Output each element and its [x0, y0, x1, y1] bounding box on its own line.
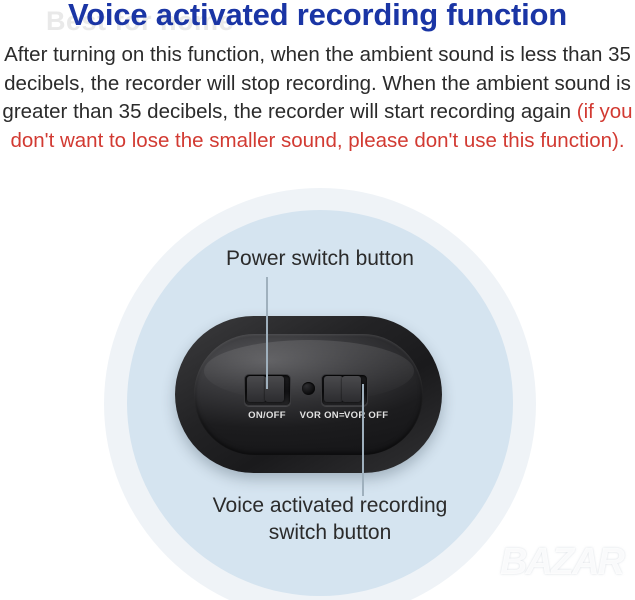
vor-switch-rocker-right-half[interactable] — [342, 376, 361, 402]
description-warning-open-paren: ( — [577, 100, 584, 123]
power-switch-rocker-left-half[interactable] — [247, 376, 266, 402]
vor-switch-rocker-left-half[interactable] — [324, 376, 343, 402]
bazar-watermark-logo: BAZAR — [500, 541, 623, 584]
vor-off-label: VOR OFF — [344, 410, 388, 421]
callout-label-power-switch: Power switch button — [140, 247, 500, 271]
vor-switch-rocker[interactable] — [321, 374, 368, 406]
vor-switch-legend: VOR ON=VOR OFF — [295, 410, 393, 421]
device-control-panel: ON/OFF VOR ON=VOR OFF — [194, 334, 423, 455]
callout-label-vor-switch: Voice activated recording switch button — [160, 492, 500, 546]
vor-on-label: VOR ON — [300, 410, 339, 421]
page-title: Voice activated recording function — [0, 0, 635, 33]
leader-line-power-switch — [266, 277, 268, 389]
callout-label-vor-switch-line1: Voice activated recording — [160, 492, 500, 519]
recorder-device-illustration: ON/OFF VOR ON=VOR OFF — [175, 316, 442, 473]
product-info-page: Best for home Voice activated recording … — [0, 0, 635, 600]
leader-line-vor-switch — [362, 384, 364, 496]
callout-label-vor-switch-line2: switch button — [160, 519, 500, 546]
description-normal-text: After turning on this function, when the… — [2, 43, 630, 123]
description-warning-close-paren: ). — [612, 129, 625, 152]
description-paragraph: After turning on this function, when the… — [2, 41, 633, 155]
power-switch-legend: ON/OFF — [238, 410, 296, 421]
microphone-hole-icon — [302, 382, 315, 395]
